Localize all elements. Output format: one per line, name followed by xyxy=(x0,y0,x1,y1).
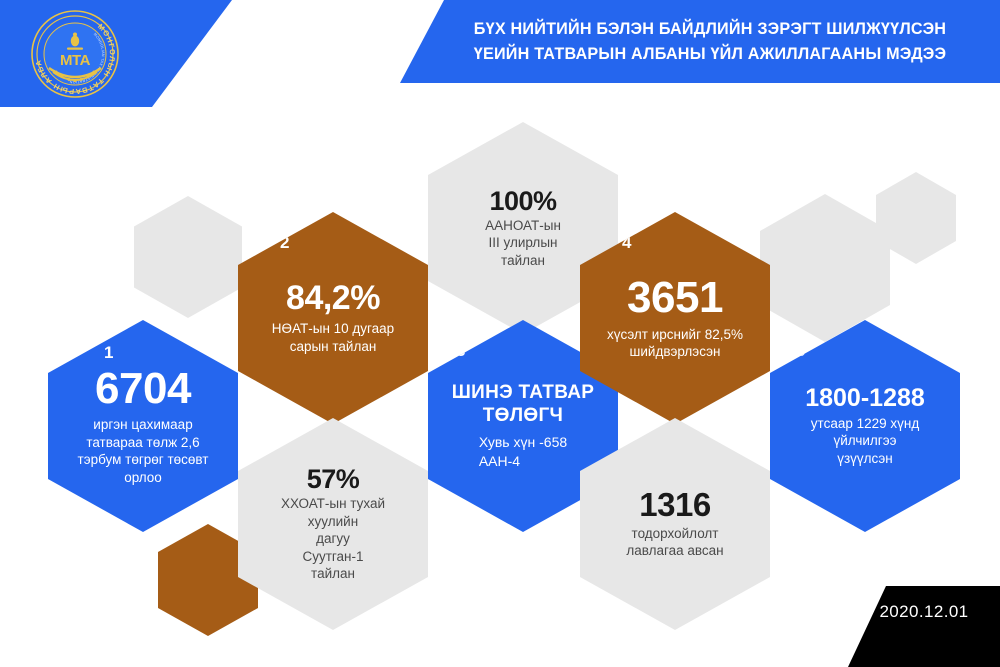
stat-index-badge: 3 xyxy=(456,342,465,359)
stat-caption: НӨАТ-ын 10 дугаар сарын тайлан xyxy=(250,320,416,355)
stat-value: 84,2% xyxy=(286,281,380,317)
stat-value: 100% xyxy=(489,187,556,215)
stat-caption: утсаар 1229 хүнд үйлчилгээ үзүүлсэн xyxy=(789,415,941,468)
date-label: 2020.12.01 xyxy=(848,586,1000,638)
stat-caption: ААНОАТ-ын III улирлын тайлан xyxy=(463,217,583,270)
stat-caption: тодорхойлолт лавлагаа авсан xyxy=(604,525,745,560)
decorative-hexagon-left xyxy=(134,196,242,318)
stat-index-badge: 4 xyxy=(622,234,631,251)
page-title-line-2: ҮЕИЙН ТАТВАРЫН АЛБАНЫ ҮЙЛ АЖИЛЛАГААНЫ МЭ… xyxy=(474,42,946,67)
infographic-canvas: МОНГОЛЫН ТАТВАРЫН АЛБА MONGOLIAN TAX ADM… xyxy=(0,0,1000,667)
tax-administration-logo: МОНГОЛЫН ТАТВАРЫН АЛБА MONGOLIAN TAX ADM… xyxy=(29,8,121,100)
stat-caption: хүсэлт ирснийг 82,5% шийдвэрлэсэн xyxy=(585,326,765,361)
stat-value: 3651 xyxy=(627,275,723,321)
stat-title: ШИНЭ ТАТВАР ТӨЛӨГЧ xyxy=(438,381,609,427)
stat-index-badge: 5 xyxy=(796,342,805,359)
stat-hexagon-5-hotline[interactable]: 5 1800-1288 утсаар 1229 хүнд үйлчилгээ ү… xyxy=(770,320,960,532)
stat-hexagon-hhoat-57[interactable]: 57% ХХОАТ-ын тухай хуулийн дагуу Суутган… xyxy=(238,418,428,630)
stat-value: 1800-1288 xyxy=(805,385,925,411)
page-title: БҮХ НИЙТИЙН БЭЛЭН БАЙДЛИЙН ЗЭРЭГТ ШИЛЖҮҮ… xyxy=(430,8,990,76)
svg-text:МТА: МТА xyxy=(60,52,91,69)
stat-value: 1316 xyxy=(639,488,710,523)
stat-value: 57% xyxy=(307,465,360,493)
stat-index-badge: 1 xyxy=(104,344,113,361)
stat-value: 6704 xyxy=(95,366,191,412)
stat-hexagon-2-noat-report[interactable]: 2 84,2% НӨАТ-ын 10 дугаар сарын тайлан xyxy=(238,212,428,424)
stat-caption: иргэн цахимаар татвараа төлж 2,6 тэрбум … xyxy=(56,416,231,486)
stat-index-badge: 2 xyxy=(280,234,289,251)
page-title-line-1: БҮХ НИЙТИЙН БЭЛЭН БАЙДЛИЙН ЗЭРЭГТ ШИЛЖҮҮ… xyxy=(474,17,946,42)
stat-caption: Хувь хүн -658 ААН-4 xyxy=(479,433,567,471)
stat-caption: ХХОАТ-ын тухай хуулийн дагуу Суутган-1 т… xyxy=(259,495,407,583)
stat-hexagon-1-citizens[interactable]: 1 6704 иргэн цахимаар татвараа төлж 2,6 … xyxy=(48,320,238,532)
decorative-hexagon-right-large xyxy=(760,194,890,342)
